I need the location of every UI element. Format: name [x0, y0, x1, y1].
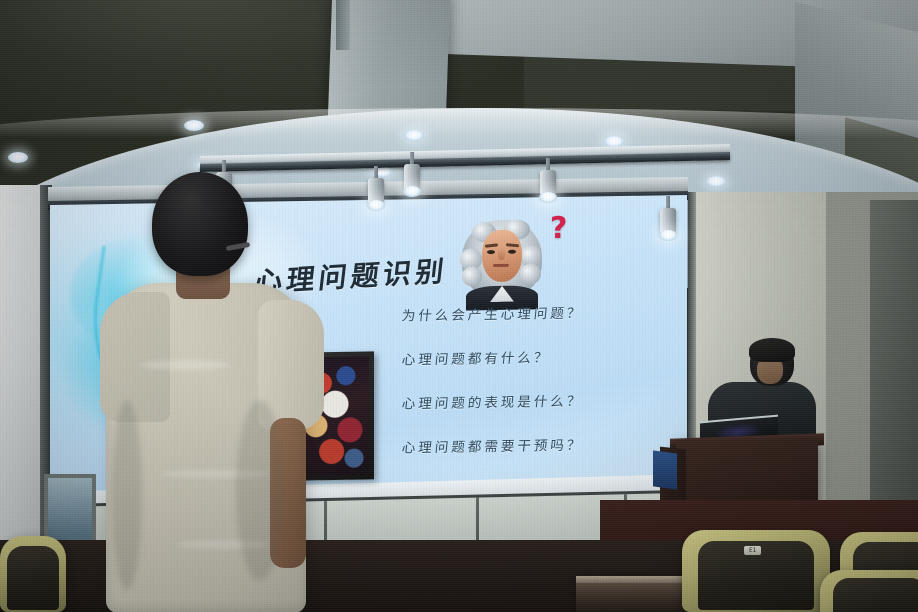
shirt-fold — [140, 360, 230, 370]
shirt-shadow — [236, 400, 284, 580]
wig-curl — [520, 263, 541, 284]
lectern-blue-accent — [653, 450, 677, 489]
recessed-downlight — [706, 176, 726, 187]
slide-bullet: 心理问题都有什么？ — [401, 344, 663, 368]
front-table-top — [576, 576, 688, 583]
mouth — [493, 264, 509, 267]
presenter-hair — [749, 338, 795, 362]
recessed-downlight — [8, 152, 28, 163]
bach-portrait — [460, 213, 544, 310]
recessed-downlight — [404, 130, 424, 141]
auditorium-seat — [0, 536, 66, 612]
slide-bullet: 心理问题都需要干预吗？ — [401, 432, 663, 456]
spotlight-bulb — [367, 200, 385, 211]
attendee-head — [152, 172, 248, 276]
wall-far-right — [870, 200, 918, 530]
slide-bullet: 为什么会产生心理问题？ — [401, 300, 663, 324]
nose — [498, 249, 505, 260]
question-mark-accent: ? — [550, 211, 567, 246]
spotlight-bulb — [403, 186, 421, 197]
recessed-downlight — [604, 136, 624, 147]
auditorium-seat: E1 — [682, 530, 830, 612]
recessed-downlight — [184, 120, 204, 131]
spotlight-bulb — [539, 192, 557, 203]
seat-back-pad — [833, 578, 918, 612]
seat-back-pad — [7, 546, 58, 610]
spotlight-bulb — [659, 230, 677, 241]
auditorium-seat — [820, 570, 918, 612]
seat-number-plate: E1 — [744, 546, 761, 555]
front-table — [576, 578, 688, 612]
slide-bullet: 心理问题的表现是什么？ — [401, 388, 663, 412]
attendee-shoulder-left — [100, 292, 170, 422]
slide-bullet-list: 为什么会产生心理问题？ 心理问题都有什么？ 心理问题的表现是什么？ 心理问题都需… — [402, 300, 662, 480]
shirt-shadow — [112, 400, 142, 590]
lecture-hall-photo: ? 心理问题识别 为什么会产生心理问题？ 心理问题都有什么？ 心理问题的表现是什… — [0, 0, 918, 612]
ceiling-beam-center-shadow — [336, 0, 350, 50]
